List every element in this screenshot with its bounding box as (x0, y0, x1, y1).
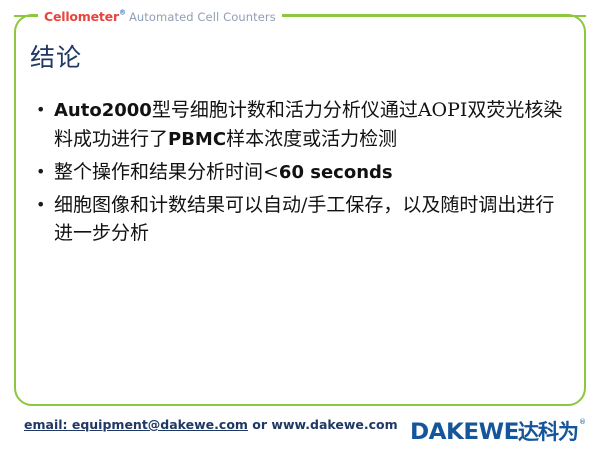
bullet-marker: • (36, 96, 54, 124)
slide-canvas: Cellometer®Automated Cell Counters 结论 • … (0, 0, 600, 450)
brand-header: Cellometer®Automated Cell Counters (14, 7, 586, 24)
dakewe-logo: DAKEWE达科为® (410, 416, 586, 446)
bullet-text-plain: 样本浓度或活力检测 (226, 128, 397, 150)
brand-rule-left (14, 15, 38, 17)
registered-trademark-icon: ® (119, 8, 126, 16)
bullet-text-bold: PBMC (168, 129, 226, 150)
footer-separator: or (248, 417, 271, 432)
bullet-text-plain: 细胞图像和计数结果可以自动/手工保存，以及随时调出进行进一步分析 (54, 194, 554, 244)
slide-footer: email: equipment@dakewe.com or www.dakew… (0, 412, 600, 450)
footer-contact: email: equipment@dakewe.com or www.dakew… (24, 417, 398, 432)
brand-name: Cellometer (44, 9, 119, 24)
logo-registered-trademark-icon: ® (579, 418, 586, 426)
bullet-marker: • (36, 191, 54, 219)
brand-rule-right (282, 15, 586, 17)
list-item: • 整个操作和结果分析时间<60 seconds (36, 158, 564, 187)
list-item: • Auto2000型号细胞计数和活力分析仪通过AOPI双荧光核染料成功进行了P… (36, 96, 564, 154)
logo-chinese-text: 达科为 (518, 416, 578, 446)
bullet-text-bold: 60 seconds (279, 162, 393, 183)
bullet-text-plain: 整个操作和结果分析时间< (54, 161, 279, 183)
list-item: • 细胞图像和计数结果可以自动/手工保存，以及随时调出进行进一步分析 (36, 191, 564, 247)
bullet-text-bold: Auto2000 (54, 100, 152, 121)
brand-tagline: Automated Cell Counters (129, 10, 276, 24)
brand-wordmark: Cellometer®Automated Cell Counters (38, 8, 282, 24)
email-link[interactable]: email: equipment@dakewe.com (24, 417, 248, 432)
page-title: 结论 (30, 44, 82, 72)
bullet-text: Auto2000型号细胞计数和活力分析仪通过AOPI双荧光核染料成功进行了PBM… (54, 96, 564, 154)
bullet-text: 细胞图像和计数结果可以自动/手工保存，以及随时调出进行进一步分析 (54, 191, 564, 247)
logo-latin-text: DAKEWE (410, 420, 519, 445)
website-text: www.dakewe.com (271, 417, 397, 432)
bullet-list: • Auto2000型号细胞计数和活力分析仪通过AOPI双荧光核染料成功进行了P… (36, 96, 564, 251)
bullet-marker: • (36, 158, 54, 186)
bullet-text: 整个操作和结果分析时间<60 seconds (54, 158, 564, 187)
